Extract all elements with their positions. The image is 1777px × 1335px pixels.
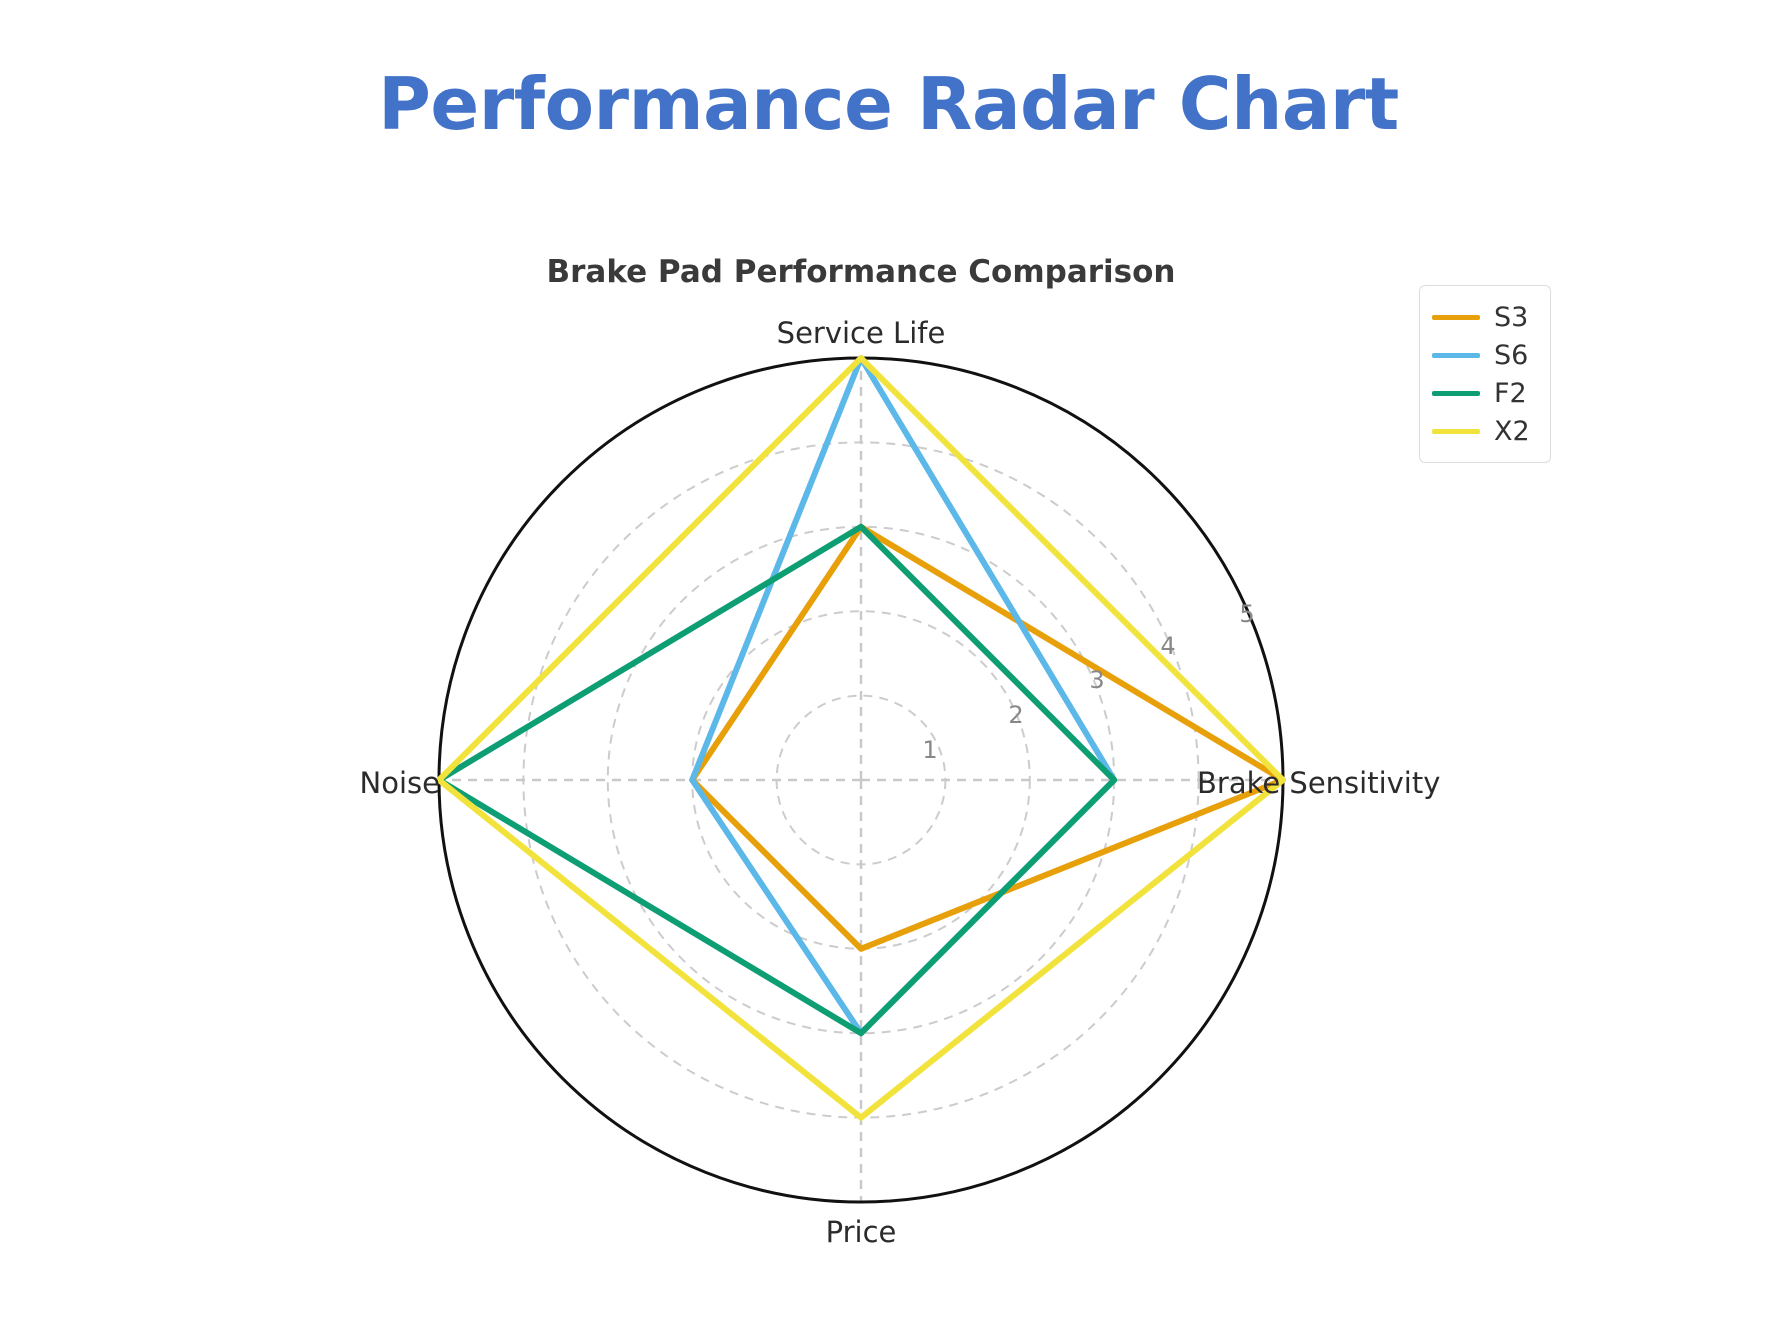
radial-tick-5: 5 <box>1239 600 1254 628</box>
legend-swatch-icon <box>1432 353 1480 358</box>
axis-label-service-life: Service Life <box>777 316 946 350</box>
legend-item-s3[interactable]: S3 <box>1432 298 1536 336</box>
page-root: Performance Radar Chart Brake Pad Perfor… <box>0 0 1777 1335</box>
radar-chart-canvas <box>0 0 1777 1335</box>
radial-tick-2: 2 <box>1008 701 1023 729</box>
axis-label-brake-sensitivity: Brake Sensitivity <box>1197 766 1440 800</box>
legend-swatch-icon <box>1432 315 1480 320</box>
radar-chart: Brake Pad Performance Comparison Service… <box>0 0 1777 1335</box>
legend-item-s6[interactable]: S6 <box>1432 336 1536 374</box>
legend-label: F2 <box>1494 380 1527 407</box>
chart-legend: S3S6F2X2 <box>1419 285 1551 463</box>
radial-tick-3: 3 <box>1089 666 1104 694</box>
radial-tick-4: 4 <box>1160 632 1175 660</box>
legend-label: S3 <box>1494 304 1528 331</box>
radial-tick-1: 1 <box>922 736 937 764</box>
legend-swatch-icon <box>1432 391 1480 396</box>
axis-label-noise: Noise <box>360 766 440 800</box>
axis-label-price: Price <box>826 1215 897 1249</box>
chart-title: Brake Pad Performance Comparison <box>546 254 1175 290</box>
legend-item-f2[interactable]: F2 <box>1432 374 1536 412</box>
radar-series-s3 <box>692 527 1283 949</box>
legend-item-x2[interactable]: X2 <box>1432 412 1536 450</box>
legend-label: S6 <box>1494 342 1528 369</box>
legend-label: X2 <box>1494 418 1530 445</box>
legend-swatch-icon <box>1432 429 1480 434</box>
